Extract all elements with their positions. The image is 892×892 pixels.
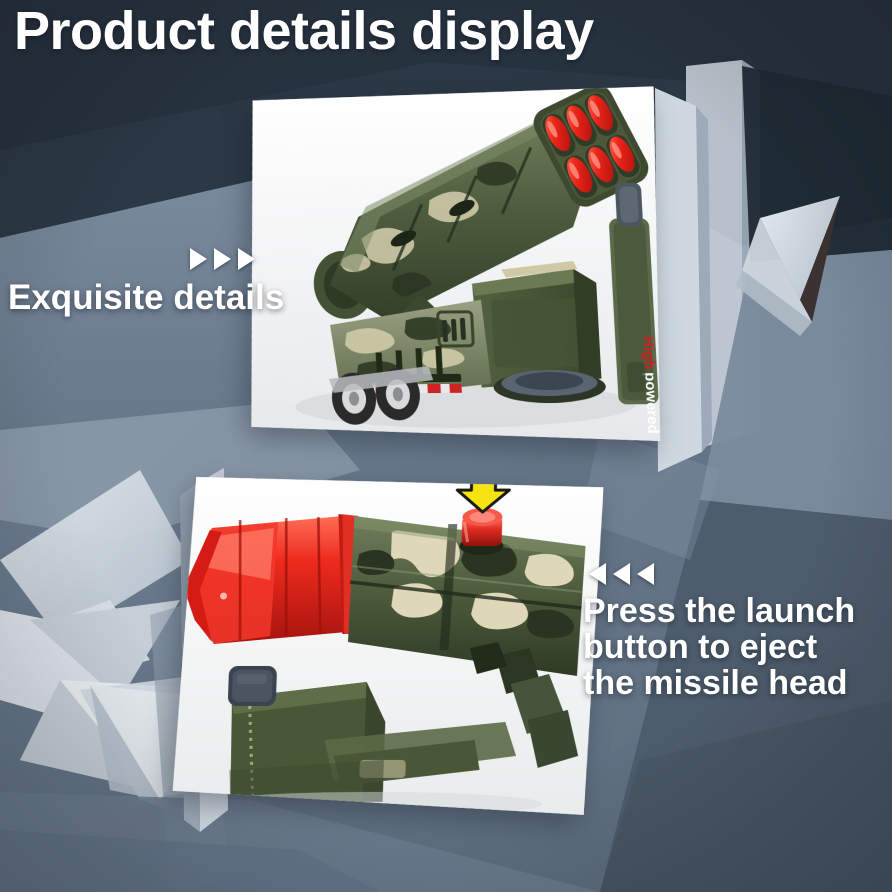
- triangle-left-icon: [637, 563, 654, 585]
- caption-press-launch-button: Press the launch button to eject the mis…: [583, 563, 855, 701]
- triangle-right-icon: [214, 248, 231, 270]
- triangle-left-icon: [613, 563, 630, 585]
- caption-left-text: Exquisite details: [8, 279, 284, 316]
- product-photo-top[interactable]: High powered: [233, 86, 673, 444]
- caption-exquisite-details: Exquisite details: [8, 248, 284, 316]
- caption-right-arrows: [589, 563, 855, 585]
- triangle-right-icon: [190, 248, 207, 270]
- caption-right-line-3: the missile head: [583, 665, 855, 701]
- page-title: Product details display: [14, 4, 594, 58]
- missile-warhead: [182, 514, 365, 644]
- triangle-left-icon: [589, 563, 606, 585]
- product-detail-banner: Product details display: [0, 0, 892, 892]
- missile-head-closeup-illustration: [172, 470, 604, 815]
- product-photo-bottom[interactable]: [172, 470, 604, 815]
- caption-left-arrows: [190, 248, 284, 270]
- missile-truck-illustration: High powered: [233, 86, 673, 444]
- caption-right-line-2: button to eject: [583, 629, 855, 665]
- triangle-right-icon: [238, 248, 255, 270]
- caption-right-line-1: Press the launch: [583, 593, 855, 629]
- launch-button[interactable]: [459, 508, 505, 555]
